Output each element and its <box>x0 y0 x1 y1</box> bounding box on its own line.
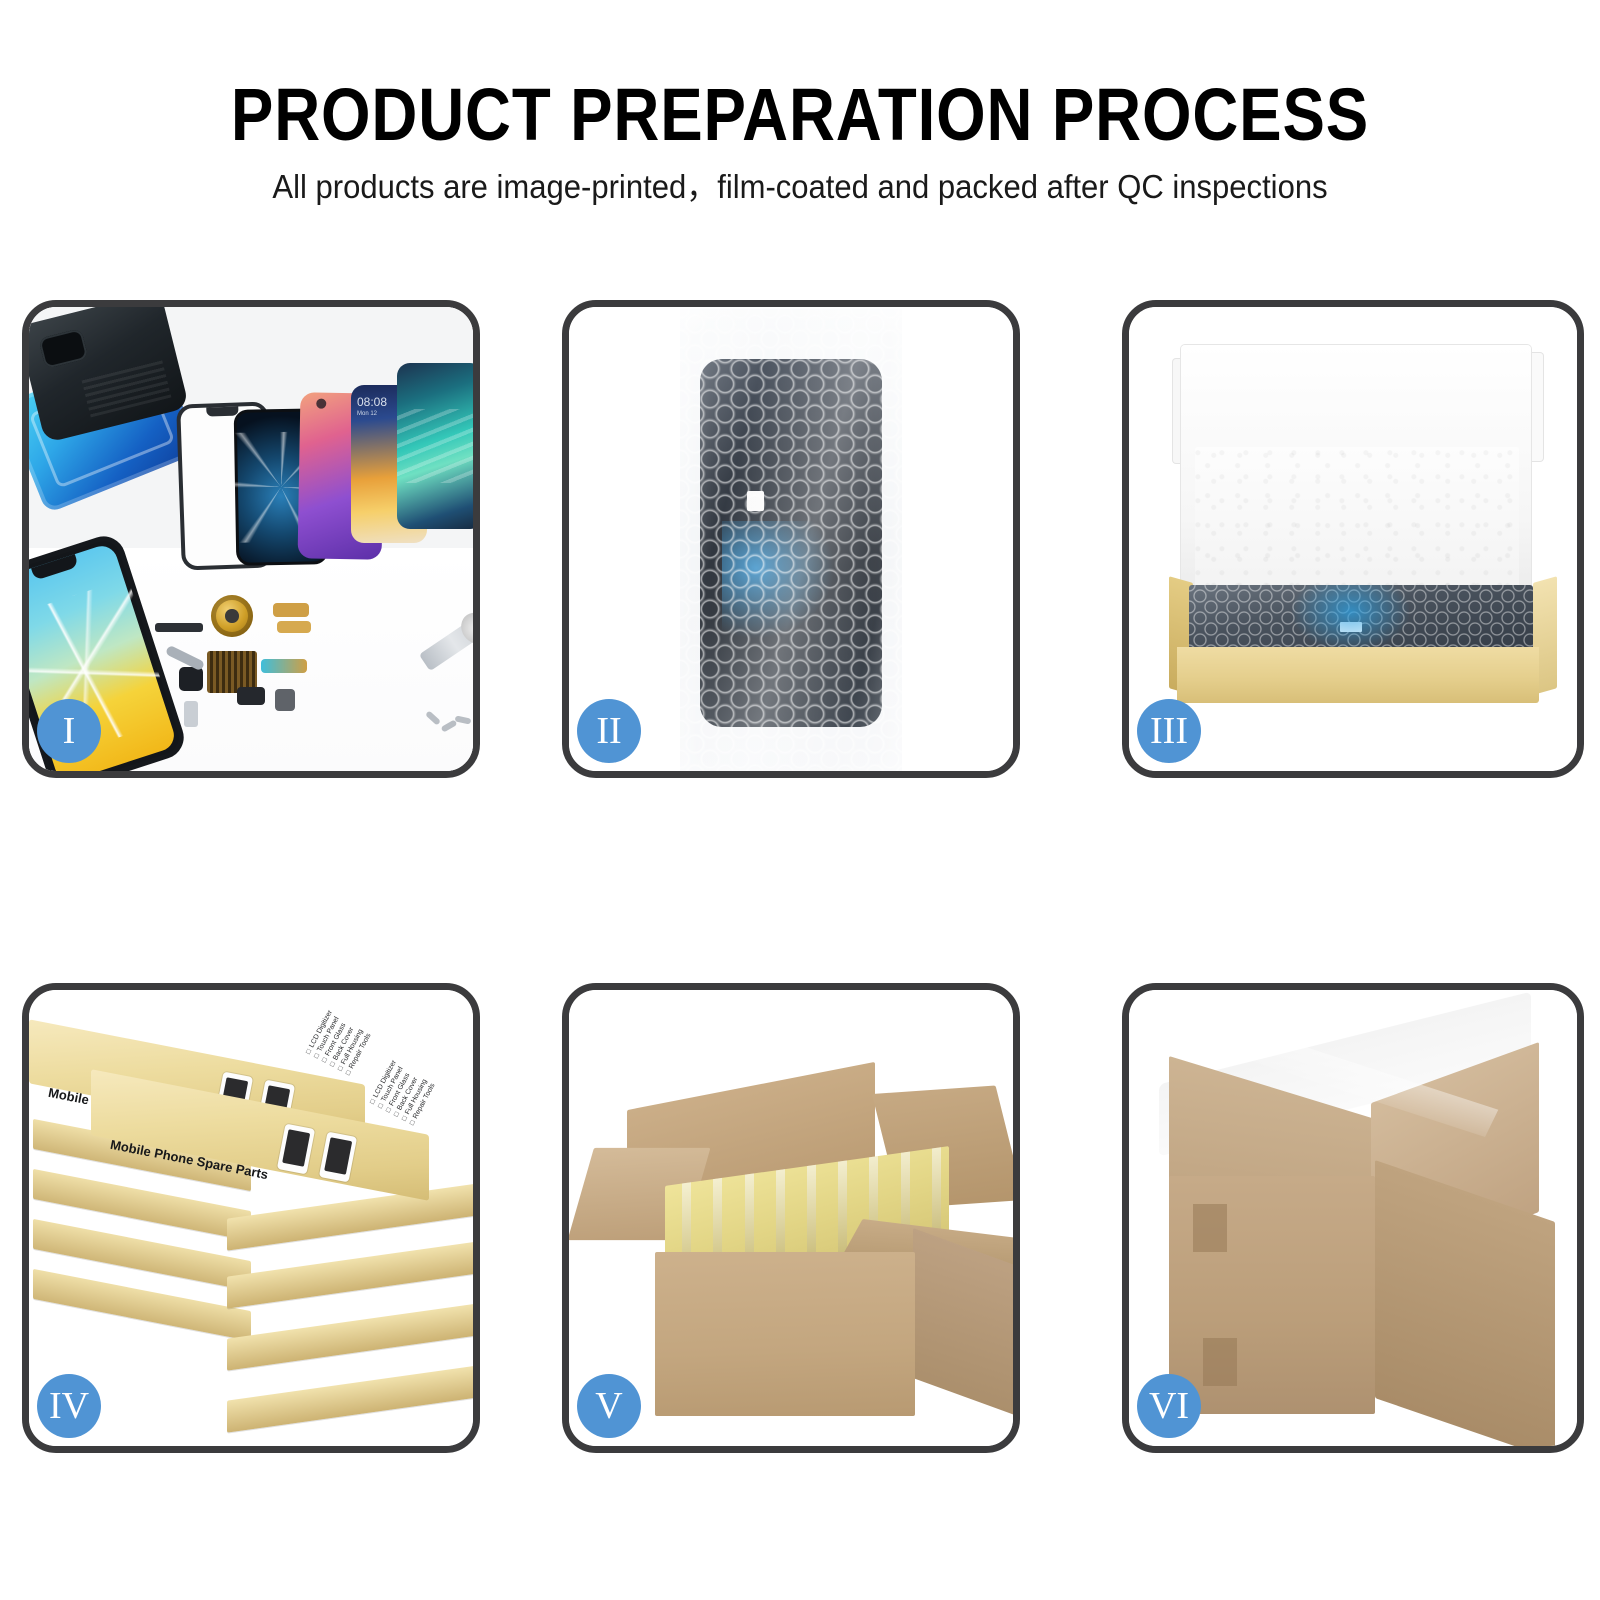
vibrator-part <box>237 687 265 705</box>
retail-box-checklist-2: LCD Digitizer Touch Panel Front Glass Ba… <box>369 1059 439 1127</box>
retail-box-checklist-1: LCD Digitizer Touch Panel Front Glass Ba… <box>305 1009 375 1077</box>
step-badge-1: I <box>37 699 101 763</box>
flex-cable-part-2 <box>277 621 311 633</box>
wrapped-product-inside <box>1189 585 1533 651</box>
foam-padding <box>1195 447 1519 593</box>
step-panel-3[interactable]: III <box>1122 300 1584 778</box>
step-panel-2[interactable]: II <box>562 300 1020 778</box>
step-badge-6: VI <box>1137 1374 1201 1438</box>
flex-cable-part-3 <box>261 659 307 673</box>
step-3-image <box>1129 307 1577 771</box>
step-badge-5: V <box>577 1374 641 1438</box>
step-4-image: Mobile Phone Spare Parts LCD Digitizer T… <box>29 990 473 1446</box>
speaker-part <box>155 623 203 632</box>
flex-cable-part-1 <box>273 603 309 617</box>
phone-teal-screen <box>397 363 473 529</box>
camera-module-part <box>179 667 203 691</box>
step-1-image: 08:08Mon 12 <box>29 307 473 771</box>
box-front-wall <box>1177 647 1539 703</box>
step-badge-4: IV <box>37 1374 101 1438</box>
step-badge-3: III <box>1137 699 1201 763</box>
step-panel-4[interactable]: Mobile Phone Spare Parts LCD Digitizer T… <box>22 983 480 1453</box>
screws-part <box>425 715 471 735</box>
sim-tray-part <box>184 701 198 727</box>
button-part <box>275 689 295 711</box>
step-panel-5[interactable]: V <box>562 983 1020 1453</box>
carton-seam-tape-bottom <box>1203 1338 1237 1386</box>
step-5-image <box>569 990 1013 1446</box>
step-2-image <box>569 307 1013 771</box>
wireless-coil-part <box>211 595 253 637</box>
step-panel-6[interactable]: VI <box>1122 983 1584 1453</box>
step-6-image <box>1129 990 1577 1446</box>
carton-seam-tape-top <box>1193 1204 1227 1252</box>
plastic-film-sheen <box>680 309 902 771</box>
step-panel-1[interactable]: 08:08Mon 12 I <box>22 300 480 778</box>
steps-grid: 08:08Mon 12 I <box>0 0 1600 1600</box>
step-badge-2: II <box>577 699 641 763</box>
carton-body-front <box>655 1252 915 1416</box>
